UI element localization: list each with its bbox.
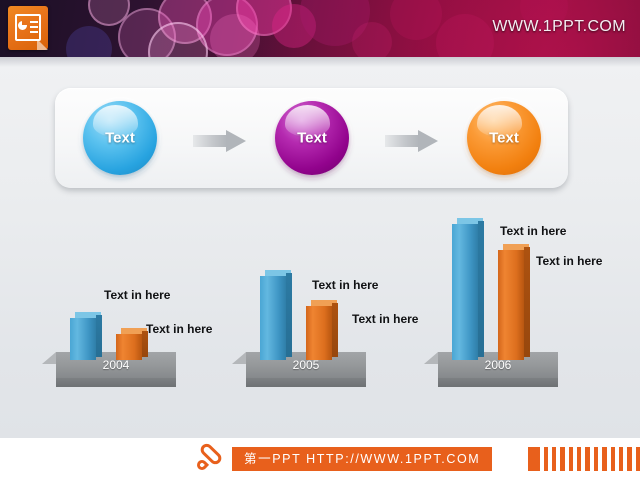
bokeh-circle xyxy=(88,0,130,26)
flow-arrow-2-icon xyxy=(385,130,439,152)
footer-banner-text: 第一PPT HTTP://WWW.1PPT.COM xyxy=(232,447,492,471)
bar-front-face xyxy=(306,306,332,360)
bar-label-2005-orange: Text in here xyxy=(352,312,418,326)
text-line-icon xyxy=(30,31,38,33)
pen-marker-icon xyxy=(196,446,224,472)
pie-chart-icon xyxy=(18,21,27,30)
chart-group-2005: 2005 Text in here Text in here xyxy=(232,248,432,398)
bokeh-circle xyxy=(196,0,258,56)
bokeh-circle xyxy=(272,4,316,48)
bokeh-circle xyxy=(158,0,212,44)
bar-2005-orange[interactable] xyxy=(306,300,342,362)
arrow-head xyxy=(226,130,246,152)
page-fold-icon xyxy=(37,39,48,50)
footer-stripe xyxy=(544,447,548,471)
bokeh-circle xyxy=(66,26,112,57)
header-banner: WWW.1PPT.COM xyxy=(0,0,640,57)
flow-step-2-sphere[interactable]: Text xyxy=(275,101,349,175)
flow-step-3-label: Text xyxy=(467,130,541,147)
bar-label-2004-blue: Text in here xyxy=(104,288,170,302)
footer-stripe xyxy=(594,447,598,471)
bar-front-face xyxy=(452,224,478,360)
footer-stripe xyxy=(569,447,573,471)
bar-side-face xyxy=(478,221,484,357)
chart-group-2004: 2004 Text in here Text in here xyxy=(42,276,222,396)
header-shadow xyxy=(0,57,640,67)
platform-front-face xyxy=(438,378,558,387)
bar-2006-orange[interactable] xyxy=(498,244,534,362)
chart-group-2006: 2006 Text in here Text in here xyxy=(424,206,634,396)
footer-stripe xyxy=(560,447,564,471)
flow-step-2-label: Text xyxy=(275,130,349,147)
footer-stripe xyxy=(611,447,615,471)
footer-stripe xyxy=(552,447,556,471)
bar-label-2004-orange: Text in here xyxy=(146,322,212,336)
bar-side-face xyxy=(332,303,338,357)
flow-step-1-sphere[interactable]: Text xyxy=(83,101,157,175)
platform-top-bevel xyxy=(424,352,438,364)
arrow-head xyxy=(418,130,438,152)
flow-step-3-sphere[interactable]: Text xyxy=(467,101,541,175)
bokeh-circle xyxy=(436,14,494,57)
powerpoint-document-icon xyxy=(8,6,48,50)
bar-side-face xyxy=(286,273,292,357)
platform-top-bevel xyxy=(42,352,56,364)
platform-top-bevel xyxy=(232,352,246,364)
platform-front-face xyxy=(246,378,366,387)
bar-side-face xyxy=(524,247,530,357)
bokeh-circle xyxy=(210,14,260,57)
text-line-icon xyxy=(30,26,38,28)
bar-2006-blue[interactable] xyxy=(452,218,488,360)
flow-arrow-1-icon xyxy=(193,130,247,152)
process-flow-panel: Text Text Text xyxy=(55,88,568,188)
footer-stripe xyxy=(528,447,540,471)
bokeh-circle xyxy=(118,8,176,57)
bar-label-2006-blue: Text in here xyxy=(500,224,566,238)
bokeh-circle xyxy=(236,0,292,36)
bar-label-2006-orange: Text in here xyxy=(536,254,602,268)
platform-front-face xyxy=(56,378,176,387)
pen-tip xyxy=(195,458,209,472)
bar-front-face xyxy=(260,276,286,360)
footer-stripes xyxy=(528,447,640,471)
bar-2004-blue[interactable] xyxy=(70,312,106,360)
footer-stripe xyxy=(636,447,640,471)
footer-stripe xyxy=(627,447,631,471)
footer-stripe xyxy=(619,447,623,471)
bokeh-circle xyxy=(300,0,370,46)
bar-2005-blue[interactable] xyxy=(260,270,296,360)
footer-stripe xyxy=(602,447,606,471)
bar-label-2005-blue: Text in here xyxy=(312,278,378,292)
footer-stripe xyxy=(585,447,589,471)
bokeh-circle xyxy=(390,0,442,40)
slide-canvas: WWW.1PPT.COM Text Text Text xyxy=(0,0,640,480)
site-url-text: WWW.1PPT.COM xyxy=(492,18,626,36)
flow-step-1-label: Text xyxy=(83,130,157,147)
footer-stripe xyxy=(577,447,581,471)
text-line-icon xyxy=(30,21,38,23)
bar-front-face xyxy=(498,250,524,360)
arrow-shaft xyxy=(385,135,419,147)
footer-bar: 第一PPT HTTP://WWW.1PPT.COM xyxy=(0,438,640,480)
bokeh-circle xyxy=(148,22,208,57)
bokeh-circle xyxy=(352,22,392,57)
bar-front-face xyxy=(70,318,96,360)
bar-front-face xyxy=(116,334,142,360)
bar-side-face xyxy=(96,315,102,357)
arrow-shaft xyxy=(193,135,227,147)
